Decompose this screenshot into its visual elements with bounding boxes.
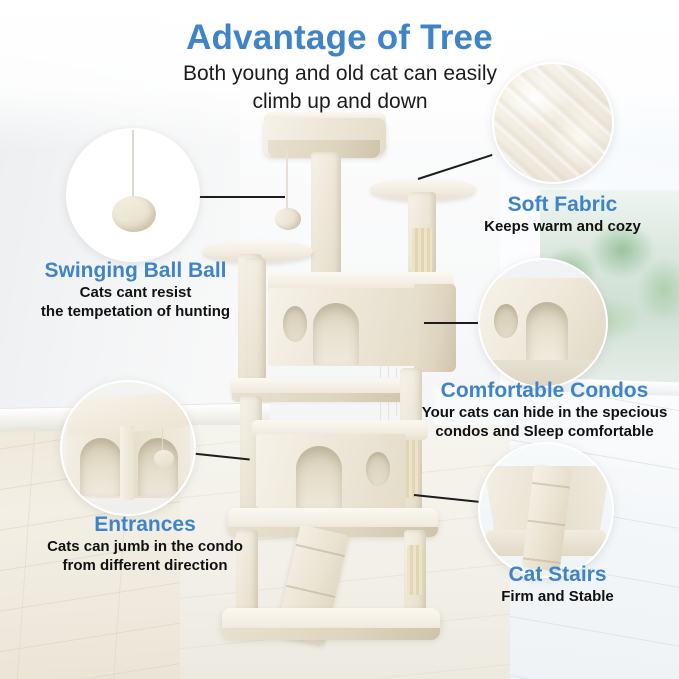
hanging-ball (275, 208, 301, 230)
center-post (311, 152, 341, 278)
feature-heading: Cat Stairs (450, 562, 665, 587)
feature-label-soft-fabric: Soft Fabric Keeps warm and cozy (440, 192, 679, 236)
feature-desc-line-1: Cats cant resist (8, 283, 263, 302)
base-board-edge (222, 628, 440, 640)
connector-comfortable-condos (424, 322, 486, 324)
feature-desc-line-2: condos and Sleep comfortable (412, 422, 677, 441)
upper-condo-side (414, 284, 456, 372)
condo-corner-column (120, 426, 134, 500)
hanging-ball-string-icon (132, 130, 134, 202)
hanging-ball-icon (112, 196, 156, 232)
feature-heading: Soft Fabric (440, 192, 679, 217)
upper-condo-oval-entrance (283, 306, 307, 342)
feature-desc-line-1: Keeps warm and cozy (440, 217, 679, 236)
callout-circle-comfortable-condos[interactable] (478, 258, 608, 388)
feature-label-swinging-ball: Swinging Ball Ball Cats cant resist the … (8, 258, 263, 321)
callout-circle-swinging-ball[interactable] (66, 128, 200, 262)
condo-arch-door-icon (526, 302, 568, 364)
page-subtitle: Both young and old cat can easily climb … (110, 60, 570, 116)
page-title: Advantage of Tree (0, 18, 679, 58)
hanging-ball-string (286, 150, 288, 216)
toy-ball-icon (154, 450, 174, 467)
feature-desc-line-2: from different direction (20, 556, 270, 575)
infographic-canvas: Advantage of Tree Both young and old cat… (0, 0, 679, 679)
connector-swinging-ball (193, 196, 285, 198)
feature-heading: Comfortable Condos (412, 378, 677, 403)
lower-condo-oval-entrance (366, 452, 390, 486)
feature-label-comfortable-condos: Comfortable Condos Your cats can hide in… (412, 378, 677, 441)
feature-desc-line-1: Firm and Stable (450, 587, 665, 606)
callout-circle-entrances[interactable] (60, 380, 196, 516)
upper-condo-arch-entrance (313, 303, 359, 365)
subtitle-line-1: Both young and old cat can easily (110, 60, 570, 88)
lower-condo-arch-entrance (296, 446, 342, 508)
feature-label-cat-stairs: Cat Stairs Firm and Stable (450, 562, 665, 606)
entrance-arch-left-icon (80, 438, 122, 496)
feature-heading: Swinging Ball Ball (8, 258, 263, 283)
condo-oval-hole-icon (494, 304, 518, 338)
feature-label-entrances: Entrances Cats can jumb in the condo fro… (20, 512, 270, 575)
entrance-arch-right-icon (138, 438, 178, 496)
feature-desc-line-1: Your cats can hide in the specious (412, 403, 677, 422)
sisal-wrap-base (407, 545, 423, 595)
sisal-wrap-right (412, 228, 432, 274)
feature-desc-line-1: Cats can jumb in the condo (20, 537, 270, 556)
feature-heading: Entrances (20, 512, 270, 537)
callout-circle-cat-stairs[interactable] (478, 442, 614, 578)
subtitle-line-2: climb up and down (110, 88, 570, 116)
feature-desc-line-2: the tempetation of hunting (8, 302, 263, 321)
